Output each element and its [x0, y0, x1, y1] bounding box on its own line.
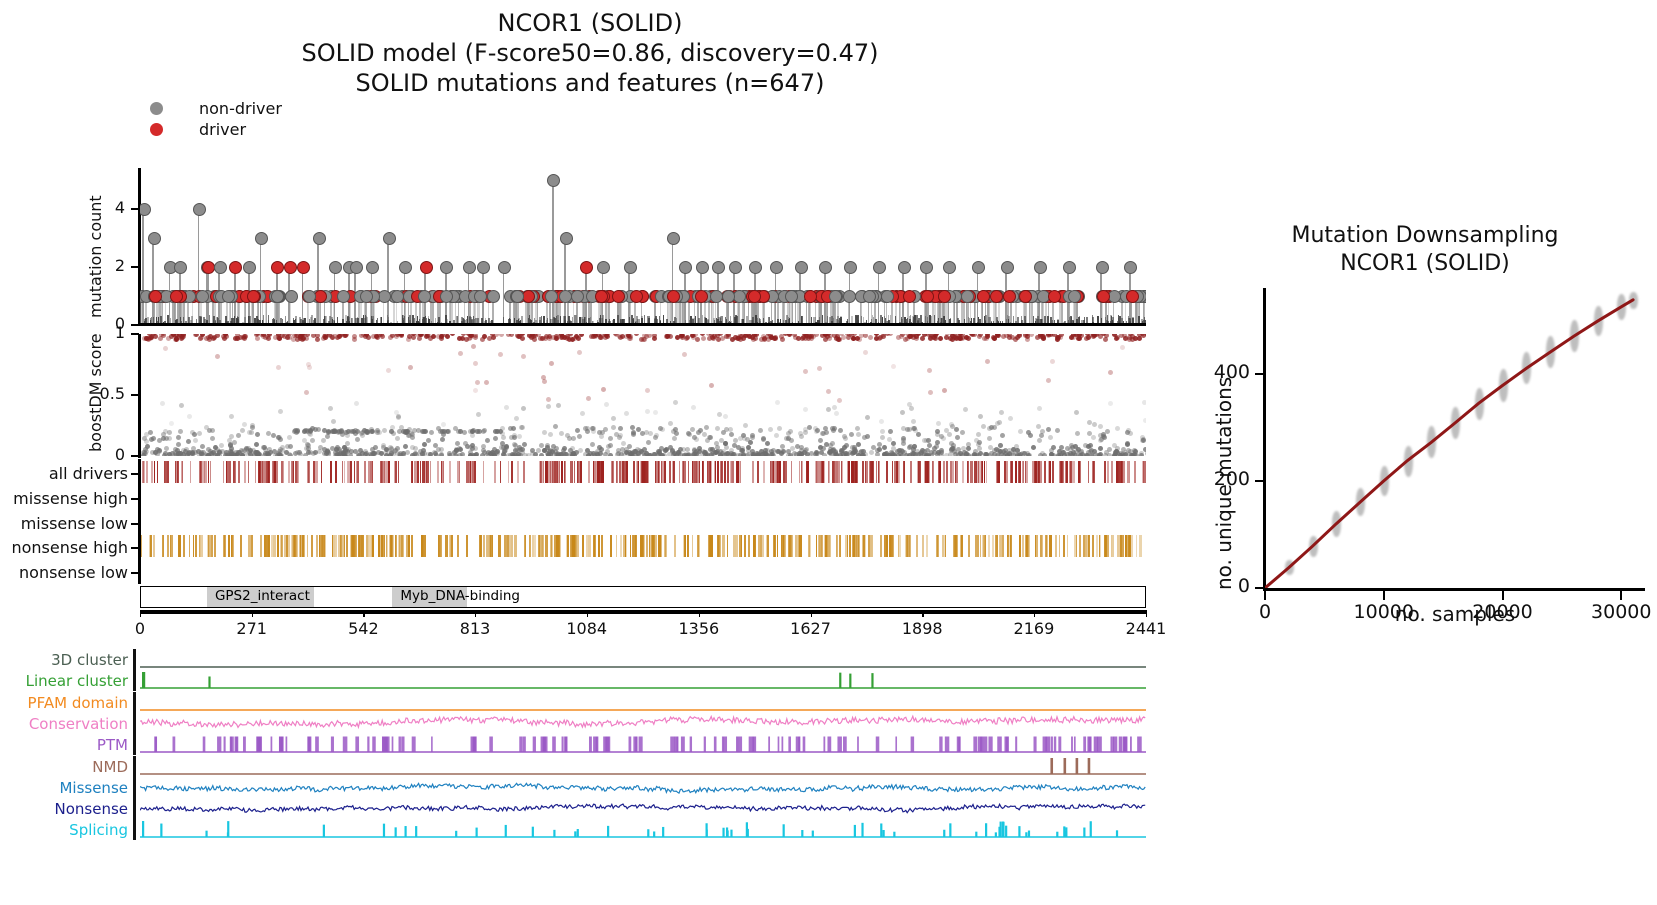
boostdm-point[interactable]	[239, 448, 244, 453]
boostdm-point[interactable]	[901, 438, 906, 443]
boostdm-point[interactable]	[1037, 438, 1042, 443]
boostdm-point[interactable]	[255, 432, 260, 437]
boostdm-point[interactable]	[927, 368, 932, 373]
boostdm-point[interactable]	[176, 435, 181, 440]
boostdm-point[interactable]	[1084, 336, 1089, 341]
boostdm-point[interactable]	[844, 443, 849, 448]
boostdm-point[interactable]	[856, 432, 861, 437]
boostdm-point[interactable]	[542, 379, 547, 384]
boostdm-point[interactable]	[668, 421, 673, 426]
boostdm-point[interactable]	[512, 442, 517, 447]
boostdm-point[interactable]	[601, 387, 606, 392]
boostdm-point[interactable]	[642, 337, 647, 342]
lollipop-head-driver[interactable]	[420, 261, 433, 274]
boostdm-point[interactable]	[586, 453, 591, 456]
boostdm-point[interactable]	[250, 423, 255, 428]
boostdm-point[interactable]	[954, 427, 959, 432]
boostdm-point[interactable]	[868, 335, 873, 340]
boostdm-point[interactable]	[192, 432, 197, 437]
boostdm-point[interactable]	[996, 453, 1001, 456]
boostdm-point[interactable]	[144, 336, 149, 341]
boostdm-point[interactable]	[481, 429, 486, 434]
boostdm-point[interactable]	[701, 336, 706, 341]
boostdm-point[interactable]	[877, 447, 882, 452]
boostdm-point[interactable]	[966, 446, 971, 451]
lollipop-head-driver[interactable]	[284, 261, 297, 274]
boostdm-point[interactable]	[439, 452, 444, 456]
boostdm-point[interactable]	[1143, 418, 1146, 423]
boostdm-point[interactable]	[219, 443, 224, 448]
lollipop-head-non-driver[interactable]	[547, 174, 560, 187]
boostdm-point[interactable]	[468, 335, 473, 340]
boostdm-point[interactable]	[305, 334, 310, 337]
boostdm-point[interactable]	[1055, 428, 1060, 433]
boostdm-point[interactable]	[215, 447, 220, 452]
boostdm-point[interactable]	[162, 453, 167, 456]
boostdm-point[interactable]	[254, 442, 259, 447]
boostdm-point[interactable]	[715, 426, 720, 431]
boostdm-point[interactable]	[1091, 435, 1096, 440]
boostdm-point[interactable]	[197, 431, 202, 436]
boostdm-point[interactable]	[200, 444, 205, 449]
boostdm-point[interactable]	[441, 422, 446, 427]
boostdm-point[interactable]	[774, 433, 779, 438]
boostdm-point[interactable]	[1103, 453, 1108, 456]
boostdm-point[interactable]	[691, 405, 696, 410]
boostdm-point[interactable]	[836, 337, 841, 342]
boostdm-point[interactable]	[547, 336, 552, 341]
boostdm-point[interactable]	[546, 397, 551, 402]
lollipop-head-driver[interactable]	[630, 290, 643, 303]
boostdm-point[interactable]	[178, 429, 183, 434]
boostdm-point[interactable]	[753, 336, 758, 341]
boostdm-point[interactable]	[900, 410, 905, 415]
boostdm-point[interactable]	[797, 453, 802, 456]
boostdm-point[interactable]	[686, 452, 691, 456]
lollipop-head-non-driver[interactable]	[350, 261, 363, 274]
lollipop-head-non-driver[interactable]	[1063, 261, 1076, 274]
boostdm-point[interactable]	[526, 453, 531, 456]
boostdm-point[interactable]	[460, 336, 465, 341]
boostdm-point[interactable]	[1036, 424, 1041, 429]
boostdm-point[interactable]	[331, 419, 336, 424]
boostdm-point[interactable]	[622, 451, 627, 456]
lollipop-head-driver[interactable]	[271, 261, 284, 274]
boostdm-point[interactable]	[826, 407, 831, 412]
boostdm-point[interactable]	[238, 335, 243, 340]
lollipop-head-non-driver[interactable]	[399, 261, 412, 274]
boostdm-point[interactable]	[1075, 431, 1080, 436]
boostdm-point[interactable]	[1098, 433, 1103, 438]
boostdm-point[interactable]	[193, 438, 198, 443]
boostdm-point[interactable]	[514, 416, 519, 421]
boostdm-point[interactable]	[287, 335, 292, 340]
boostdm-point[interactable]	[215, 354, 220, 359]
boostdm-point[interactable]	[455, 441, 460, 446]
boostdm-point[interactable]	[536, 448, 541, 453]
boostdm-point[interactable]	[261, 445, 266, 450]
boostdm-point[interactable]	[857, 337, 862, 342]
boostdm-point[interactable]	[1011, 447, 1016, 452]
boostdm-point[interactable]	[355, 437, 360, 442]
boostdm-point[interactable]	[278, 409, 283, 414]
boostdm-point[interactable]	[673, 400, 678, 405]
boostdm-point[interactable]	[827, 336, 832, 341]
boostdm-point[interactable]	[458, 351, 463, 356]
lollipop-head-non-driver[interactable]	[440, 261, 453, 274]
boostdm-point[interactable]	[485, 438, 490, 443]
lollipop-head-non-driver[interactable]	[898, 261, 911, 274]
boostdm-point[interactable]	[1133, 336, 1138, 341]
boostdm-point[interactable]	[1013, 337, 1018, 342]
lollipop-head-non-driver[interactable]	[285, 290, 298, 303]
boostdm-point[interactable]	[474, 452, 479, 456]
boostdm-point[interactable]	[546, 404, 551, 409]
boostdm-point[interactable]	[549, 361, 554, 366]
boostdm-point[interactable]	[761, 436, 766, 441]
lollipop-head-non-driver[interactable]	[1096, 261, 1109, 274]
boostdm-point[interactable]	[899, 453, 904, 456]
boostdm-point[interactable]	[817, 366, 822, 371]
lollipop-head-driver[interactable]	[1003, 290, 1016, 303]
boostdm-point[interactable]	[869, 450, 874, 455]
boostdm-point[interactable]	[652, 336, 657, 341]
lollipop-head-non-driver[interactable]	[749, 261, 762, 274]
boostdm-point[interactable]	[955, 435, 960, 440]
boostdm-point[interactable]	[855, 426, 860, 431]
boostdm-point[interactable]	[888, 429, 893, 434]
boostdm-point[interactable]	[732, 443, 737, 448]
boostdm-point[interactable]	[947, 432, 952, 437]
boostdm-point[interactable]	[591, 334, 596, 339]
boostdm-point[interactable]	[996, 334, 1001, 338]
boostdm-point[interactable]	[916, 432, 921, 437]
lollipop-head-non-driver[interactable]	[679, 261, 692, 274]
boostdm-point[interactable]	[972, 452, 977, 456]
boostdm-point[interactable]	[645, 409, 650, 414]
boostdm-point[interactable]	[717, 412, 722, 417]
boostdm-point[interactable]	[476, 412, 481, 417]
boostdm-point[interactable]	[179, 336, 184, 341]
boostdm-point[interactable]	[911, 419, 916, 424]
boostdm-point[interactable]	[401, 453, 406, 456]
boostdm-point[interactable]	[618, 335, 623, 340]
boostdm-point[interactable]	[499, 445, 504, 450]
boostdm-point[interactable]	[978, 414, 983, 419]
boostdm-point[interactable]	[1065, 452, 1070, 456]
boostdm-point[interactable]	[410, 445, 415, 450]
boostdm-point[interactable]	[627, 444, 632, 449]
boostdm-point[interactable]	[371, 334, 376, 339]
boostdm-point[interactable]	[1143, 447, 1146, 452]
boostdm-point[interactable]	[288, 444, 293, 449]
boostdm-point[interactable]	[167, 452, 172, 456]
boostdm-point[interactable]	[826, 389, 831, 394]
boostdm-point[interactable]	[498, 429, 503, 434]
boostdm-point[interactable]	[556, 453, 561, 456]
boostdm-point[interactable]	[916, 452, 921, 456]
boostdm-point[interactable]	[634, 334, 639, 336]
boostdm-point[interactable]	[209, 451, 214, 456]
boostdm-point[interactable]	[542, 430, 547, 435]
boostdm-point[interactable]	[473, 388, 478, 393]
boostdm-point[interactable]	[1050, 359, 1055, 364]
boostdm-point[interactable]	[964, 452, 969, 456]
boostdm-point[interactable]	[618, 433, 623, 438]
boostdm-point[interactable]	[776, 449, 781, 454]
lollipop-head-driver[interactable]	[170, 290, 183, 303]
boostdm-point[interactable]	[928, 390, 933, 395]
boostdm-point[interactable]	[577, 434, 582, 439]
boostdm-point[interactable]	[572, 336, 577, 341]
boostdm-point[interactable]	[198, 336, 203, 341]
boostdm-point[interactable]	[186, 439, 191, 444]
boostdm-point[interactable]	[901, 426, 906, 431]
lollipop-head-non-driver[interactable]	[972, 261, 985, 274]
boostdm-point[interactable]	[926, 438, 931, 443]
boostdm-point[interactable]	[925, 453, 930, 456]
boostdm-point[interactable]	[520, 425, 525, 430]
boostdm-point[interactable]	[257, 452, 262, 456]
boostdm-point[interactable]	[746, 448, 751, 453]
boostdm-point[interactable]	[775, 400, 780, 405]
boostdm-point[interactable]	[276, 365, 281, 370]
boostdm-point[interactable]	[308, 428, 313, 433]
boostdm-point[interactable]	[169, 421, 174, 426]
boostdm-point[interactable]	[1142, 400, 1146, 405]
boostdm-point[interactable]	[163, 346, 168, 351]
boostdm-point[interactable]	[1089, 453, 1094, 456]
boostdm-point[interactable]	[328, 406, 333, 411]
boostdm-point[interactable]	[1028, 433, 1033, 438]
boostdm-point[interactable]	[832, 405, 837, 410]
lollipop-head-driver[interactable]	[297, 261, 310, 274]
boostdm-point[interactable]	[648, 431, 653, 436]
boostdm-point[interactable]	[396, 415, 401, 420]
boostdm-point[interactable]	[780, 337, 785, 342]
boostdm-point[interactable]	[1000, 433, 1005, 438]
boostdm-point[interactable]	[887, 453, 892, 456]
boostdm-point[interactable]	[295, 337, 300, 342]
lollipop-head-non-driver[interactable]	[560, 232, 573, 245]
boostdm-point[interactable]	[1051, 445, 1056, 450]
boostdm-point[interactable]	[765, 441, 770, 446]
boostdm-point[interactable]	[879, 419, 884, 424]
boostdm-point[interactable]	[473, 361, 478, 366]
boostdm-point[interactable]	[275, 453, 280, 456]
boostdm-point[interactable]	[379, 451, 384, 456]
lollipop-head-driver[interactable]	[804, 290, 817, 303]
lollipop-head-non-driver[interactable]	[667, 232, 680, 245]
boostdm-point[interactable]	[741, 452, 746, 456]
boostdm-point[interactable]	[385, 448, 390, 453]
boostdm-point[interactable]	[575, 428, 580, 433]
boostdm-point[interactable]	[337, 449, 342, 454]
boostdm-point[interactable]	[624, 411, 629, 416]
boostdm-point[interactable]	[354, 401, 359, 406]
boostdm-point[interactable]	[981, 424, 986, 429]
boostdm-point[interactable]	[178, 451, 183, 456]
boostdm-point[interactable]	[210, 428, 215, 433]
boostdm-point[interactable]	[511, 453, 516, 456]
boostdm-point[interactable]	[429, 430, 434, 435]
boostdm-point[interactable]	[907, 445, 912, 450]
boostdm-point[interactable]	[672, 436, 677, 441]
boostdm-point[interactable]	[348, 453, 353, 456]
boostdm-point[interactable]	[773, 335, 778, 340]
boostdm-point[interactable]	[875, 452, 880, 456]
boostdm-point[interactable]	[891, 364, 896, 369]
lollipop-head-non-driver[interactable]	[819, 261, 832, 274]
boostdm-point[interactable]	[944, 453, 949, 456]
lollipop-head-non-driver[interactable]	[148, 232, 161, 245]
boostdm-point[interactable]	[498, 352, 503, 357]
boostdm-point[interactable]	[157, 449, 162, 454]
boostdm-point[interactable]	[475, 380, 480, 385]
boostdm-point[interactable]	[590, 442, 595, 447]
boostdm-point[interactable]	[442, 334, 447, 337]
boostdm-point[interactable]	[388, 453, 393, 456]
boostdm-point[interactable]	[987, 436, 992, 441]
boostdm-point[interactable]	[910, 334, 915, 337]
boostdm-point[interactable]	[807, 425, 812, 430]
boostdm-point[interactable]	[729, 432, 734, 437]
boostdm-point[interactable]	[422, 442, 427, 447]
boostdm-point[interactable]	[880, 435, 885, 440]
lollipop-head-non-driver[interactable]	[943, 261, 956, 274]
boostdm-point[interactable]	[611, 425, 616, 430]
lollipop-head-driver[interactable]	[595, 290, 608, 303]
boostdm-point[interactable]	[356, 452, 361, 456]
boostdm-point[interactable]	[803, 430, 808, 435]
boostdm-point[interactable]	[1026, 453, 1031, 456]
boostdm-point[interactable]	[692, 452, 697, 456]
boostdm-point[interactable]	[1098, 424, 1103, 429]
boostdm-point[interactable]	[578, 448, 583, 453]
boostdm-point[interactable]	[768, 427, 773, 432]
boostdm-point[interactable]	[450, 334, 455, 336]
boostdm-point[interactable]	[559, 431, 564, 436]
boostdm-point[interactable]	[815, 428, 820, 433]
boostdm-point[interactable]	[470, 433, 475, 438]
boostdm-point[interactable]	[636, 451, 641, 456]
boostdm-point[interactable]	[395, 446, 400, 451]
boostdm-point[interactable]	[485, 451, 490, 456]
boostdm-point[interactable]	[408, 365, 413, 370]
boostdm-point[interactable]	[960, 430, 965, 435]
boostdm-point[interactable]	[222, 336, 227, 341]
boostdm-point[interactable]	[411, 335, 416, 340]
boostdm-point[interactable]	[248, 451, 253, 456]
boostdm-point[interactable]	[243, 334, 248, 339]
boostdm-point[interactable]	[696, 430, 701, 435]
boostdm-point[interactable]	[711, 451, 716, 456]
boostdm-point[interactable]	[759, 337, 764, 342]
boostdm-point[interactable]	[491, 453, 496, 456]
boostdm-point[interactable]	[608, 436, 613, 441]
boostdm-point[interactable]	[789, 438, 794, 443]
boostdm-point[interactable]	[577, 350, 582, 355]
boostdm-point[interactable]	[240, 428, 245, 433]
lollipop-head-non-driver[interactable]	[487, 290, 500, 303]
boostdm-point[interactable]	[1104, 334, 1109, 338]
boostdm-point[interactable]	[160, 401, 165, 406]
boostdm-point[interactable]	[702, 432, 707, 437]
boostdm-point[interactable]	[841, 452, 846, 456]
boostdm-point[interactable]	[880, 429, 885, 434]
boostdm-point[interactable]	[865, 434, 870, 439]
boostdm-point[interactable]	[337, 429, 342, 434]
boostdm-point[interactable]	[1039, 433, 1044, 438]
boostdm-point[interactable]	[493, 436, 498, 441]
boostdm-point[interactable]	[989, 425, 994, 430]
lollipop-head-non-driver[interactable]	[498, 261, 511, 274]
boostdm-point[interactable]	[821, 446, 826, 451]
lollipop-head-driver[interactable]	[990, 290, 1003, 303]
boostdm-point[interactable]	[546, 453, 551, 456]
boostdm-point[interactable]	[1020, 451, 1025, 456]
boostdm-point[interactable]	[468, 429, 473, 434]
lollipop-head-non-driver[interactable]	[255, 232, 268, 245]
boostdm-point[interactable]	[822, 453, 827, 456]
boostdm-point[interactable]	[881, 334, 886, 339]
boostdm-point[interactable]	[673, 427, 678, 432]
boostdm-point[interactable]	[325, 434, 330, 439]
boostdm-point[interactable]	[999, 410, 1004, 415]
lollipop-head-driver[interactable]	[229, 261, 242, 274]
lollipop-head-non-driver[interactable]	[785, 290, 798, 303]
boostdm-point[interactable]	[335, 335, 340, 340]
boostdm-point[interactable]	[856, 442, 861, 447]
lollipop-head-non-driver[interactable]	[140, 203, 151, 216]
lollipop-head-non-driver[interactable]	[383, 232, 396, 245]
boostdm-point[interactable]	[149, 437, 154, 442]
boostdm-point[interactable]	[605, 334, 610, 336]
boostdm-point[interactable]	[1048, 435, 1053, 440]
lollipop-head-non-driver[interactable]	[214, 261, 227, 274]
boostdm-point[interactable]	[787, 334, 792, 337]
boostdm-point[interactable]	[695, 337, 700, 342]
boostdm-point[interactable]	[1003, 451, 1008, 456]
boostdm-point[interactable]	[304, 390, 309, 395]
boostdm-point[interactable]	[242, 422, 247, 427]
boostdm-point[interactable]	[645, 388, 650, 393]
boostdm-point[interactable]	[1008, 416, 1013, 421]
lollipop-head-non-driver[interactable]	[729, 261, 742, 274]
boostdm-point[interactable]	[630, 425, 635, 430]
boostdm-point[interactable]	[421, 448, 426, 453]
boostdm-point[interactable]	[887, 437, 892, 442]
boostdm-point[interactable]	[517, 448, 522, 453]
boostdm-point[interactable]	[457, 453, 462, 456]
boostdm-point[interactable]	[386, 368, 391, 373]
boostdm-point[interactable]	[468, 453, 473, 456]
lollipop-head-non-driver[interactable]	[843, 290, 856, 303]
boostdm-point[interactable]	[646, 440, 651, 445]
lollipop-head-non-driver[interactable]	[243, 261, 256, 274]
boostdm-point[interactable]	[865, 415, 870, 420]
boostdm-point[interactable]	[630, 453, 635, 456]
boostdm-point[interactable]	[704, 425, 709, 430]
boostdm-point[interactable]	[504, 405, 509, 410]
boostdm-point[interactable]	[187, 414, 192, 419]
boostdm-point[interactable]	[942, 388, 947, 393]
boostdm-point[interactable]	[1037, 406, 1042, 411]
boostdm-point[interactable]	[240, 453, 245, 456]
boostdm-point[interactable]	[1108, 370, 1113, 375]
boostdm-point[interactable]	[210, 436, 215, 441]
boostdm-point[interactable]	[653, 410, 658, 415]
